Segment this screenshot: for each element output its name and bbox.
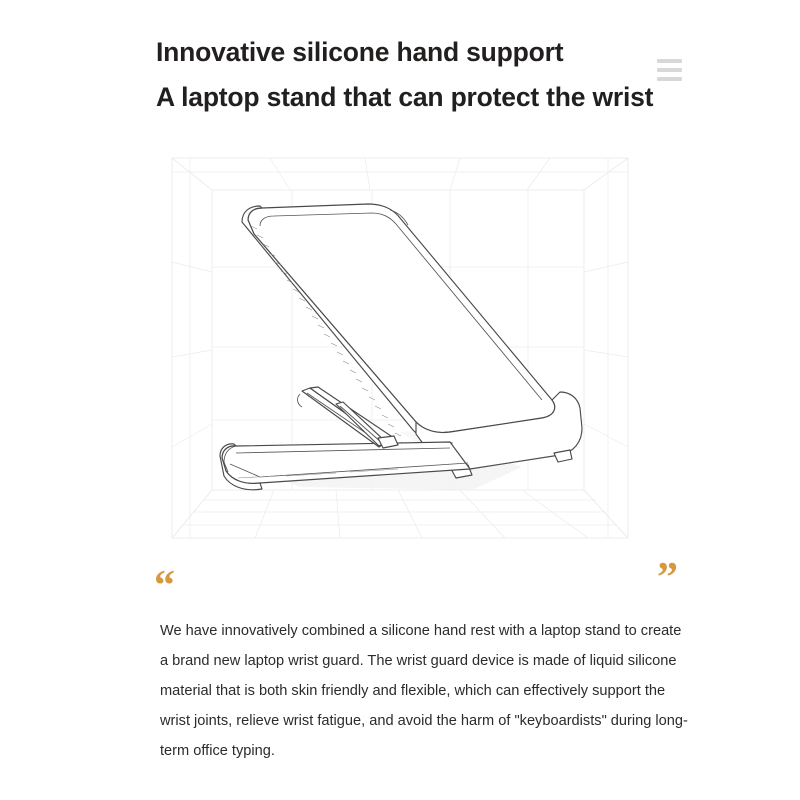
headline-line-2: A laptop stand that can protect the wris… [156,75,696,120]
product-illustration: .g { fill:none; stroke:#e6e6e9; stroke-w… [150,142,650,552]
hamburger-menu-icon[interactable] [657,59,682,81]
page-header: Innovative silicone hand support A lapto… [156,30,696,120]
quote-close-icon: ” [657,557,678,599]
hamburger-bar-1 [657,59,682,63]
quote-text: We have innovatively combined a silicone… [160,616,690,766]
hamburger-bar-3 [657,77,682,81]
laptop-stand-line-drawing: .g { fill:none; stroke:#e6e6e9; stroke-w… [150,142,650,552]
quote-open-icon: “ [154,565,175,607]
headline-line-1: Innovative silicone hand support [156,30,696,75]
hamburger-bar-2 [657,68,682,72]
